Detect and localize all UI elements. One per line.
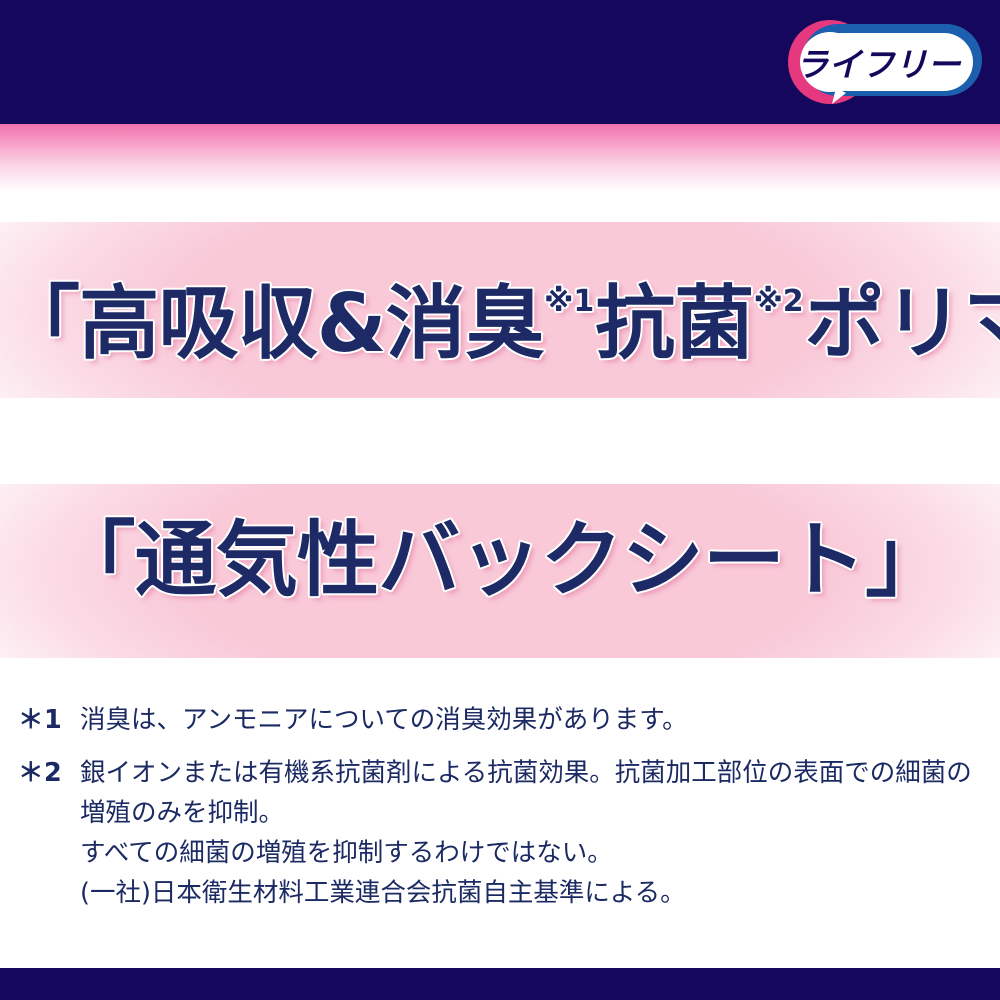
headline-1-footnote-ref-1: ※1 — [544, 284, 594, 319]
footnote-1: ＊1 消臭は、アンモニアについての消臭効果があります。 — [18, 700, 978, 740]
headline-1-open-bracket: 「 — [0, 277, 79, 370]
headline-1-footnote-ref-2: ※2 — [754, 284, 804, 319]
footnote-1-marker: ＊1 — [18, 700, 80, 740]
product-feature-panel: ライフリー 「高吸収&消臭※1抗菌※2ポリマー」 「通気性バックシート」 ＊1 … — [0, 0, 1000, 1000]
header-pink-fade — [0, 124, 1000, 192]
headline-1-part-1: 高吸収&消臭 — [79, 277, 544, 370]
footnote-2-line-2: 増殖のみを抑制。 — [80, 793, 978, 833]
footnote-1-line-1: 消臭は、アンモニアについての消臭効果があります。 — [80, 700, 978, 740]
footnote-2-line-4: (一社)日本衛生材料工業連合会抗菌自主基準による。 — [80, 873, 978, 913]
headline-breathable-backsheet: 「通気性バックシート」 — [0, 515, 1000, 607]
footnote-2-line-1: 銀イオンまたは有機系抗菌剤による抗菌効果。抗菌加工部位の表面での細菌の — [80, 753, 978, 793]
lifree-logo: ライフリー — [778, 16, 983, 108]
headline-1-part-3: ポリマー — [805, 277, 1000, 370]
headline-absorbent-polymer: 「高吸収&消臭※1抗菌※2ポリマー」 — [0, 258, 1000, 368]
footnote-2-body: 銀イオンまたは有機系抗菌剤による抗菌効果。抗菌加工部位の表面での細菌の 増殖のみ… — [80, 753, 978, 913]
bottom-footer-bar — [0, 968, 1000, 1000]
footnote-2-line-3: すべての細菌の増殖を抑制するわけではない。 — [80, 833, 978, 873]
footnote-2-marker: ＊2 — [18, 753, 80, 793]
footnote-2: ＊2 銀イオンまたは有機系抗菌剤による抗菌効果。抗菌加工部位の表面での細菌の 増… — [18, 753, 978, 913]
footnotes-section: ＊1 消臭は、アンモニアについての消臭効果があります。 ＊2 銀イオンまたは有機… — [18, 700, 978, 926]
logo-wordmark: ライフリー — [796, 45, 962, 84]
headline-1-part-2: 抗菌 — [595, 277, 753, 370]
footnote-1-body: 消臭は、アンモニアについての消臭効果があります。 — [80, 700, 978, 740]
